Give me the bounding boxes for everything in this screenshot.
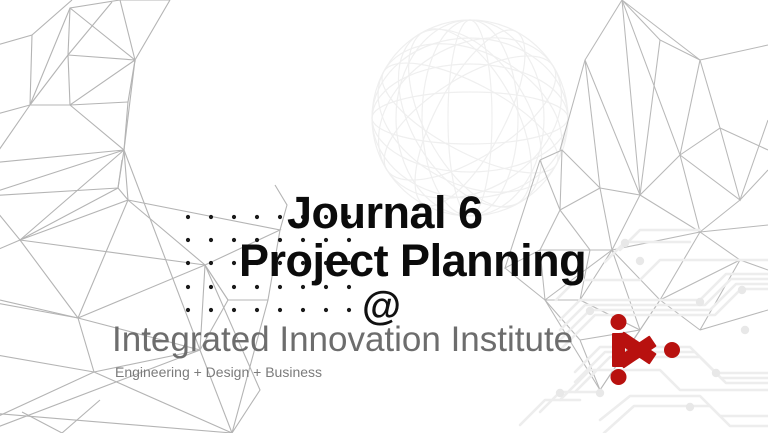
organization-tagline: Engineering + Design + Business	[115, 365, 322, 379]
slide-title-secondary: Project Planning	[239, 238, 586, 283]
slide-canvas: Journal 6 Project Planning @ Integrated …	[0, 0, 768, 433]
integrated-innovation-institute-logo	[604, 313, 688, 387]
organization-name: Integrated Innovation Institute	[112, 322, 573, 357]
slide-title-primary: Journal 6	[287, 190, 483, 235]
